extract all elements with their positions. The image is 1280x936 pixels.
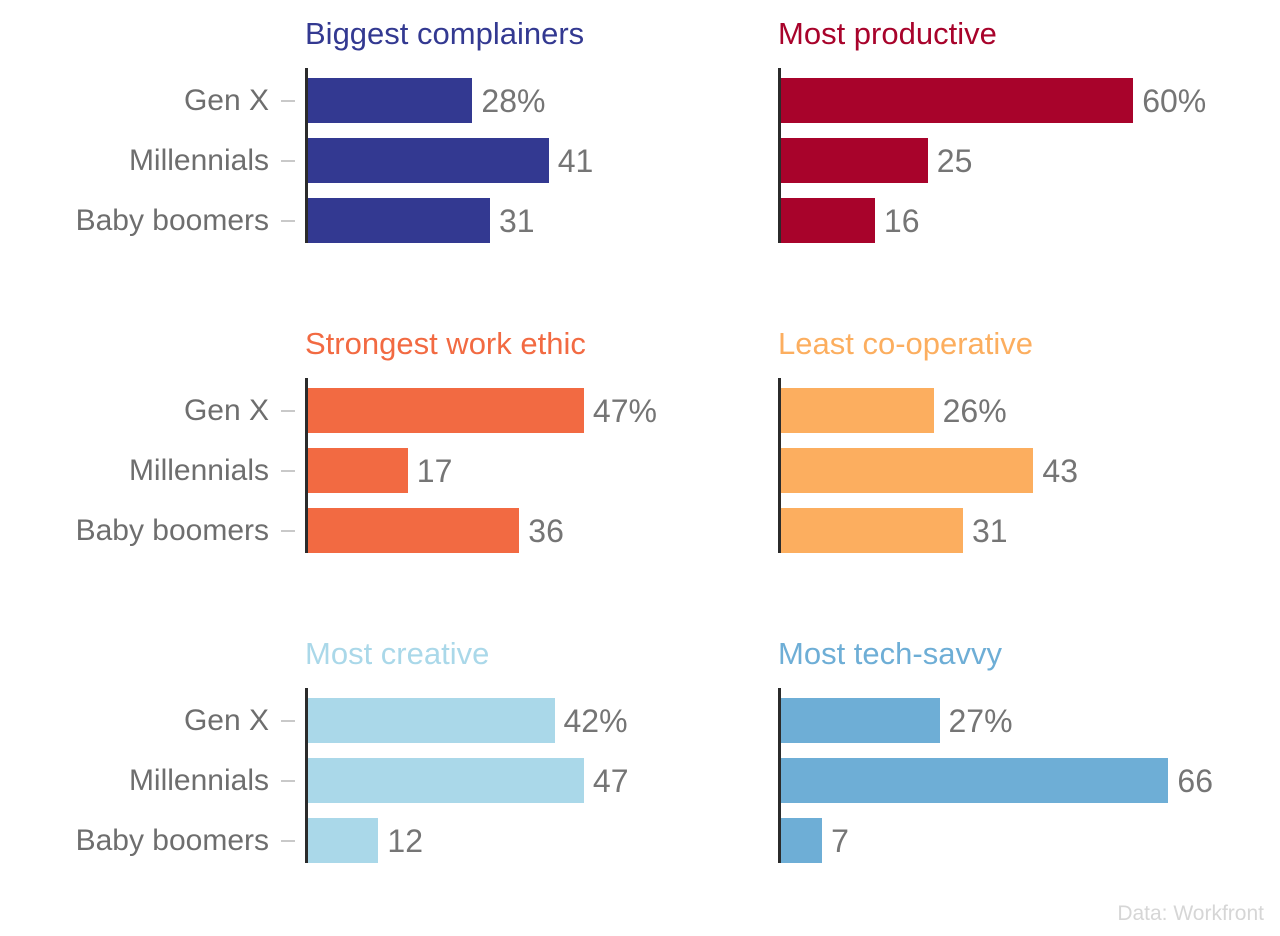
- category-label: Millennials: [129, 138, 305, 183]
- bar-row: 36: [308, 508, 564, 553]
- bar-row: 47: [308, 758, 628, 803]
- category-label-text: Baby boomers: [76, 206, 269, 236]
- category-axis-labels: Gen X Millennials Baby boomers: [0, 688, 305, 863]
- bar-row: 27%: [781, 698, 1013, 743]
- bar-value-label: 27%: [949, 705, 1013, 737]
- axis-tick-icon: [281, 840, 295, 842]
- bar-value-label: 36: [528, 515, 564, 547]
- bar-value-label: 16: [884, 205, 920, 237]
- bar-row: 16: [781, 198, 919, 243]
- bar-value-label: 31: [972, 515, 1008, 547]
- bar: [308, 758, 584, 803]
- bar: [308, 78, 472, 123]
- plot-area: 27% 66 7: [778, 688, 1280, 863]
- bar: [781, 758, 1168, 803]
- category-label: Gen X: [184, 78, 305, 123]
- bar: [781, 698, 940, 743]
- category-axis-labels: Gen X Millennials Baby boomers: [0, 378, 305, 553]
- bar-row: 17: [308, 448, 452, 493]
- category-label-text: Gen X: [184, 396, 269, 426]
- category-label: Millennials: [129, 758, 305, 803]
- bar-value-label: 7: [831, 825, 849, 857]
- bar-value-label: 12: [387, 825, 423, 857]
- bar-row: 25: [781, 138, 972, 183]
- axis-tick-icon: [281, 470, 295, 472]
- bar-row: 31: [308, 198, 535, 243]
- category-label: Gen X: [184, 388, 305, 433]
- category-label-text: Millennials: [129, 766, 269, 796]
- panel-title: Most productive: [778, 18, 997, 49]
- bar-value-label: 26%: [943, 395, 1007, 427]
- bar: [781, 138, 928, 183]
- bar-value-label: 28%: [481, 85, 545, 117]
- bar: [308, 388, 584, 433]
- category-label-text: Baby boomers: [76, 516, 269, 546]
- plot-area: 47% 17 36: [305, 378, 660, 553]
- bar-value-label: 47: [593, 765, 629, 797]
- panel-least-co-operative: Least co-operative 26% 43 31: [660, 310, 1280, 620]
- category-label: Baby boomers: [76, 508, 305, 553]
- bar: [781, 818, 822, 863]
- bar-row: 60%: [781, 78, 1206, 123]
- category-label: Baby boomers: [76, 818, 305, 863]
- bar-row: 66: [781, 758, 1213, 803]
- category-label-text: Millennials: [129, 146, 269, 176]
- bar-value-label: 42%: [564, 705, 628, 737]
- panel-title: Least co-operative: [778, 328, 1033, 359]
- multi-panel-bar-chart-figure: Biggest complainers Gen X Millennials Ba…: [0, 0, 1280, 936]
- bar-value-label: 17: [417, 455, 453, 487]
- plot-area: 26% 43 31: [778, 378, 1280, 553]
- bar: [781, 78, 1133, 123]
- bar-row: 12: [308, 818, 423, 863]
- category-label: Baby boomers: [76, 198, 305, 243]
- bar-value-label: 41: [558, 145, 594, 177]
- bar: [308, 448, 408, 493]
- bar: [781, 388, 934, 433]
- panel-most-tech-savvy: Most tech-savvy 27% 66 7: [660, 620, 1280, 900]
- bar-value-label: 60%: [1142, 85, 1206, 117]
- axis-tick-icon: [281, 410, 295, 412]
- plot-area: 60% 25 16: [778, 68, 1280, 243]
- panel-title: Most tech-savvy: [778, 638, 1002, 669]
- bar-value-label: 31: [499, 205, 535, 237]
- panel-strongest-work-ethic: Strongest work ethic Gen X Millennials B…: [0, 310, 660, 620]
- category-axis-labels: Gen X Millennials Baby boomers: [0, 68, 305, 243]
- panel-title: Most creative: [305, 638, 489, 669]
- axis-tick-icon: [281, 530, 295, 532]
- panel-biggest-complainers: Biggest complainers Gen X Millennials Ba…: [0, 0, 660, 310]
- bar-row: 7: [781, 818, 849, 863]
- category-label: Gen X: [184, 698, 305, 743]
- panel-grid: Biggest complainers Gen X Millennials Ba…: [0, 0, 1280, 900]
- axis-tick-icon: [281, 780, 295, 782]
- panel-most-productive: Most productive 60% 25 16: [660, 0, 1280, 310]
- panel-most-creative: Most creative Gen X Millennials Baby boo…: [0, 620, 660, 900]
- panel-title: Biggest complainers: [305, 18, 584, 49]
- category-label-text: Gen X: [184, 706, 269, 736]
- bar: [781, 198, 875, 243]
- category-label: Millennials: [129, 448, 305, 493]
- panel-title: Strongest work ethic: [305, 328, 586, 359]
- bar-row: 42%: [308, 698, 628, 743]
- bar-value-label: 66: [1177, 765, 1213, 797]
- bar: [308, 698, 555, 743]
- bar-row: 31: [781, 508, 1008, 553]
- category-label-text: Millennials: [129, 456, 269, 486]
- axis-tick-icon: [281, 100, 295, 102]
- plot-area: 42% 47 12: [305, 688, 660, 863]
- axis-tick-icon: [281, 220, 295, 222]
- bar: [308, 508, 519, 553]
- bar-value-label: 25: [937, 145, 973, 177]
- bar: [781, 508, 963, 553]
- bar-row: 28%: [308, 78, 545, 123]
- bar-value-label: 47%: [593, 395, 657, 427]
- category-label-text: Baby boomers: [76, 826, 269, 856]
- axis-tick-icon: [281, 160, 295, 162]
- bar-row: 43: [781, 448, 1078, 493]
- bar: [781, 448, 1033, 493]
- plot-area: 28% 41 31: [305, 68, 660, 243]
- bar-value-label: 43: [1042, 455, 1078, 487]
- bar-row: 26%: [781, 388, 1007, 433]
- source-note: Data: Workfront: [1117, 903, 1264, 924]
- bar: [308, 198, 490, 243]
- bar-row: 47%: [308, 388, 657, 433]
- bar-row: 41: [308, 138, 593, 183]
- bar: [308, 818, 378, 863]
- category-label-text: Gen X: [184, 86, 269, 116]
- bar: [308, 138, 549, 183]
- axis-tick-icon: [281, 720, 295, 722]
